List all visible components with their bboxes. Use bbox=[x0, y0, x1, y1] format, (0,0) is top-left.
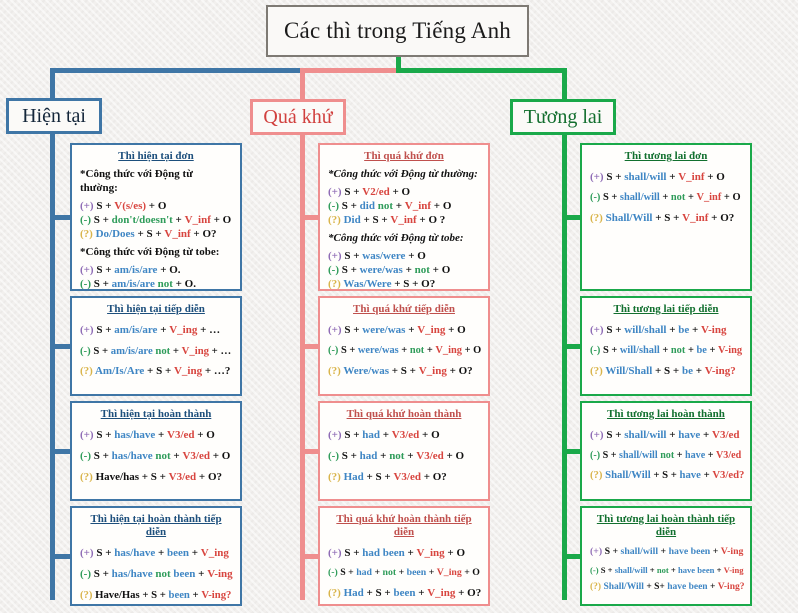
formula-section-heading: *Công thức với Động từ thường: bbox=[328, 168, 480, 182]
tense-box-future-0[interactable]: Thì tương lai đơn(+) S + shall/will + V_… bbox=[580, 143, 752, 291]
formula-line: (+) S + were/was + V_ing + O bbox=[328, 320, 480, 341]
formula-body: S + had + not + been + V_ing + O bbox=[340, 567, 480, 578]
mindmap-canvas: Các thì trong Tiếng Anh Hiện tại Quá khứ… bbox=[0, 0, 798, 613]
formula-body: S + shall/will + not + have been + V-ing bbox=[601, 565, 744, 575]
formula-body: S + am/is/are + V_ing + … bbox=[96, 324, 220, 336]
formula-body: S + has/have + V3/ed + O bbox=[96, 429, 215, 441]
formula-body: Will/Shall + S + be + V-ing? bbox=[605, 365, 735, 377]
formula-marker: (+) bbox=[328, 186, 344, 198]
formula-marker: (?) bbox=[80, 365, 95, 377]
formula-line: (-) S + am/is/are not + O. bbox=[80, 277, 232, 291]
formula-line: (+) S + am/is/are + O. bbox=[80, 263, 232, 277]
formula-body: S + am/is/are not + V_ing + … bbox=[93, 345, 231, 357]
formula-marker: (?) bbox=[328, 278, 343, 290]
tense-box-title: Thì hiện tại hoàn thành bbox=[80, 408, 232, 421]
branch-head-future[interactable]: Tương lai bbox=[510, 99, 616, 135]
tense-box-present-0[interactable]: Thì hiện tại đơn*Công thức với Động từ t… bbox=[70, 143, 242, 291]
formula-body: S + were/was + not + V_ing + O bbox=[341, 345, 481, 356]
formula-marker: (-) bbox=[80, 568, 94, 580]
tense-box-present-2[interactable]: Thì hiện tại hoàn thành(+) S + has/have … bbox=[70, 401, 242, 501]
formula-marker: (?) bbox=[328, 471, 344, 483]
formula-body: S + will/shall + not + be + V-ing bbox=[603, 345, 742, 356]
formula-line: (-) S + has/have not been + V-ing bbox=[80, 564, 232, 585]
formula-marker: (?) bbox=[328, 365, 343, 377]
formula-body: S + shall/will + have + V3/ed bbox=[606, 429, 739, 441]
formula-marker: (+) bbox=[328, 547, 344, 559]
connector-spine-past bbox=[300, 68, 305, 600]
formula-marker: (-) bbox=[80, 278, 94, 290]
formula-line: (-) S + shall/will not + have + V3/ed bbox=[590, 446, 742, 465]
formula-body: S + did not + V_inf + O bbox=[342, 200, 452, 212]
tense-box-past-2[interactable]: Thì quá khứ hoàn thành(+) S + had + V3/e… bbox=[318, 401, 490, 501]
formula-body: Had + S + V3/ed + O? bbox=[344, 471, 447, 483]
formula-body: S + V2/ed + O bbox=[344, 186, 410, 198]
connector-rail-past bbox=[300, 68, 396, 73]
formula-body: S + had been + V_ing + O bbox=[344, 547, 465, 559]
formula-marker: (?) bbox=[590, 469, 605, 481]
formula-marker: (?) bbox=[590, 582, 603, 592]
formula-body: Did + S + V_inf + O ? bbox=[344, 214, 446, 226]
connector-spine-present bbox=[50, 68, 55, 600]
formula-body: S + shall/will + not + V_inf + O bbox=[603, 192, 741, 203]
formula-marker: (-) bbox=[328, 345, 341, 356]
connector-stub-past-1 bbox=[300, 344, 318, 349]
tense-box-title: Thì hiện tại tiếp diễn bbox=[80, 303, 232, 316]
formula-marker: (-) bbox=[590, 345, 603, 356]
formula-marker: (+) bbox=[80, 429, 96, 441]
formula-line: (-) S + were/was + not + V_ing + O bbox=[328, 341, 480, 361]
formula-marker: (-) bbox=[328, 264, 342, 276]
formula-marker: (-) bbox=[80, 450, 94, 462]
formula-marker: (?) bbox=[590, 212, 606, 224]
connector-rail-present bbox=[50, 68, 300, 73]
formula-marker: (+) bbox=[80, 264, 96, 276]
tense-box-future-2[interactable]: Thì tương lai hoàn thành(+) S + shall/wi… bbox=[580, 401, 752, 501]
formula-body: S + has/have + been + V_ing bbox=[96, 547, 229, 559]
connector-stub-present-3 bbox=[50, 554, 70, 559]
formula-line: (-) S + don't/doesn't + V_inf + O bbox=[80, 213, 232, 227]
formula-line: (-) S + shall/will + not + V_inf + O bbox=[590, 188, 742, 208]
connector-spine-future bbox=[562, 68, 567, 600]
formula-line: (?) Shall/Will + S + have + V3/ed? bbox=[590, 465, 742, 485]
formula-marker: (-) bbox=[590, 450, 603, 461]
formula-marker: (+) bbox=[80, 200, 96, 212]
formula-marker: (+) bbox=[590, 546, 605, 557]
formula-marker: (+) bbox=[590, 429, 606, 441]
formula-body: S + am/is/are + O. bbox=[96, 264, 180, 276]
formula-marker: (?) bbox=[590, 365, 605, 377]
formula-marker: (+) bbox=[590, 324, 606, 336]
formula-marker: (+) bbox=[328, 250, 344, 262]
formula-line: (+) S + has/have + been + V_ing bbox=[80, 543, 232, 564]
connector-stub-past-2 bbox=[300, 449, 318, 454]
formula-line: (?) Did + S + V_inf + O ? bbox=[328, 213, 480, 227]
formula-marker: (-) bbox=[328, 450, 342, 462]
tense-box-future-3[interactable]: Thì tương lai hoàn thành tiếp diễn(+) S … bbox=[580, 506, 752, 606]
formula-line: (+) S + shall/will + have + V3/ed bbox=[590, 425, 742, 446]
tense-box-title: Thì hiện tại đơn bbox=[80, 150, 232, 163]
tense-box-present-3[interactable]: Thì hiện tại hoàn thành tiếp diễn(+) S +… bbox=[70, 506, 242, 606]
formula-line: (+) S + will/shall + be + V-ing bbox=[590, 320, 742, 341]
formula-section-heading: *Công thức với Động từ tobe: bbox=[328, 232, 480, 246]
formula-line: (?) Was/Were + S + O? bbox=[328, 277, 480, 291]
tense-box-past-3[interactable]: Thì quá khứ hoàn thành tiếp diễn(+) S + … bbox=[318, 506, 490, 606]
formula-line: (+) S + V(s/es) + O bbox=[80, 199, 232, 213]
formula-line: (-) S + had + not + V3/ed + O bbox=[328, 446, 480, 467]
formula-body: Were/was + S + V_ing + O? bbox=[343, 365, 472, 377]
formula-marker: (?) bbox=[80, 228, 96, 240]
formula-line: (+) S + had been + V_ing + O bbox=[328, 543, 480, 564]
formula-body: S + am/is/are not + O. bbox=[94, 278, 196, 290]
formula-line: (-) S + were/was + not + O bbox=[328, 263, 480, 277]
tense-box-past-1[interactable]: Thì quá khứ tiếp diễn(+) S + were/was + … bbox=[318, 296, 490, 396]
formula-line: (+) S + had + V3/ed + O bbox=[328, 425, 480, 446]
formula-line: (-) S + did not + V_inf + O bbox=[328, 199, 480, 213]
formula-body: Shall/Will + S+ have been + V-ing? bbox=[603, 582, 744, 592]
tense-box-title: Thì quá khứ đơn bbox=[328, 150, 480, 163]
formula-marker: (+) bbox=[328, 429, 344, 441]
root-title: Các thì trong Tiếng Anh bbox=[266, 5, 529, 57]
formula-body: Have/has + S + V3/ed + O? bbox=[96, 471, 222, 483]
formula-marker: (?) bbox=[328, 587, 344, 599]
formula-line: (?) Were/was + S + V_ing + O? bbox=[328, 361, 480, 382]
formula-marker: (-) bbox=[80, 214, 94, 226]
tense-box-future-1[interactable]: Thì tương lai tiếp diễn(+) S + will/shal… bbox=[580, 296, 752, 396]
formula-line: (+) S + has/have + V3/ed + O bbox=[80, 425, 232, 446]
connector-stub-future-3 bbox=[562, 554, 580, 559]
formula-body: Am/Is/Are + S + V_ing + …? bbox=[95, 365, 230, 377]
tense-box-title: Thì tương lai tiếp diễn bbox=[590, 303, 742, 316]
formula-line: (?) Do/Does + S + V_inf + O? bbox=[80, 227, 232, 241]
formula-marker: (+) bbox=[80, 547, 96, 559]
formula-body: Have/Has + S + been + V-ing? bbox=[95, 589, 231, 601]
formula-body: S + don't/doesn't + V_inf + O bbox=[94, 214, 231, 226]
connector-stub-present-2 bbox=[50, 449, 70, 454]
connector-stub-future-1 bbox=[562, 344, 580, 349]
formula-body: Shall/Will + S + have + V3/ed? bbox=[605, 469, 744, 481]
formula-marker: (-) bbox=[328, 567, 340, 578]
formula-line: (-) S + will/shall + not + be + V-ing bbox=[590, 341, 742, 361]
formula-line: (-) S + shall/will + not + have been + V… bbox=[590, 562, 742, 578]
formula-marker: (+) bbox=[328, 324, 344, 336]
formula-line: (?) Had + S + V3/ed + O? bbox=[328, 467, 480, 488]
formula-marker: (?) bbox=[80, 589, 95, 601]
formula-body: S + has/have not been + V-ing bbox=[94, 568, 233, 580]
formula-line: (+) S + shall/will + have been + V-ing bbox=[590, 543, 742, 562]
tense-box-title: Thì tương lai hoàn thành bbox=[590, 408, 742, 421]
tense-box-title: Thì quá khứ hoàn thành tiếp diễn bbox=[328, 513, 480, 539]
formula-line: (-) S + has/have not + V3/ed + O bbox=[80, 446, 232, 467]
connector-stub-present-1 bbox=[50, 344, 70, 349]
tense-box-past-0[interactable]: Thì quá khứ đơn*Công thức với Động từ th… bbox=[318, 143, 490, 291]
tense-box-present-1[interactable]: Thì hiện tại tiếp diễn(+) S + am/is/are … bbox=[70, 296, 242, 396]
tense-box-title: Thì quá khứ hoàn thành bbox=[328, 408, 480, 421]
formula-body: Shall/Will + S + V_inf + O? bbox=[606, 212, 735, 224]
formula-body: S + shall/will + V_inf + O bbox=[606, 171, 725, 183]
formula-body: S + V(s/es) + O bbox=[96, 200, 166, 212]
branch-head-past[interactable]: Quá khứ bbox=[250, 99, 346, 135]
connector-stub-future-2 bbox=[562, 449, 580, 454]
formula-line: (+) S + was/were + O bbox=[328, 249, 480, 263]
formula-body: S + had + V3/ed + O bbox=[344, 429, 439, 441]
formula-marker: (?) bbox=[80, 471, 96, 483]
connector-stub-past-0 bbox=[300, 215, 318, 220]
formula-marker: (-) bbox=[590, 192, 603, 203]
formula-line: (?) Had + S + been + V_ing + O? bbox=[328, 583, 480, 604]
formula-line: (-) S + am/is/are not + V_ing + … bbox=[80, 341, 232, 361]
formula-body: Was/Were + S + O? bbox=[343, 278, 435, 290]
tense-box-title: Thì tương lai hoàn thành tiếp diễn bbox=[590, 513, 742, 539]
formula-marker: (-) bbox=[328, 200, 342, 212]
formula-body: S + shall/will + have been + V-ing bbox=[605, 546, 744, 557]
formula-marker: (-) bbox=[590, 565, 601, 575]
formula-body: S + will/shall + be + V-ing bbox=[606, 324, 726, 336]
formula-body: Had + S + been + V_ing + O? bbox=[344, 587, 482, 599]
formula-line: (+) S + V2/ed + O bbox=[328, 185, 480, 199]
formula-line: (?) Have/has + S + V3/ed + O? bbox=[80, 467, 232, 488]
formula-line: (?) Am/Is/Are + S + V_ing + …? bbox=[80, 361, 232, 382]
connector-rail-future bbox=[396, 68, 567, 73]
formula-body: S + shall/will not + have + V3/ed bbox=[603, 450, 742, 461]
formula-body: S + was/were + O bbox=[344, 250, 425, 262]
formula-section-heading: *Công thức với Động từ thường: bbox=[80, 168, 232, 196]
connector-stub-past-3 bbox=[300, 554, 318, 559]
formula-body: S + were/was + not + O bbox=[342, 264, 451, 276]
formula-line: (?) Will/Shall + S + be + V-ing? bbox=[590, 361, 742, 382]
formula-line: (+) S + am/is/are + V_ing + … bbox=[80, 320, 232, 341]
formula-marker: (+) bbox=[590, 171, 606, 183]
formula-body: S + had + not + V3/ed + O bbox=[342, 450, 464, 462]
formula-line: (?) Shall/Will + S+ have been + V-ing? bbox=[590, 578, 742, 596]
formula-line: (?) Have/Has + S + been + V-ing? bbox=[80, 585, 232, 605]
formula-marker: (+) bbox=[80, 324, 96, 336]
formula-line: (+) S + shall/will + V_inf + O bbox=[590, 167, 742, 188]
formula-line: (-) S + had + not + been + V_ing + O bbox=[328, 564, 480, 583]
connector-stub-future-0 bbox=[562, 215, 580, 220]
formula-body: Do/Does + S + V_inf + O? bbox=[96, 228, 217, 240]
tense-box-title: Thì quá khứ tiếp diễn bbox=[328, 303, 480, 316]
formula-body: S + were/was + V_ing + O bbox=[344, 324, 465, 336]
formula-body: S + has/have not + V3/ed + O bbox=[94, 450, 231, 462]
formula-marker: (?) bbox=[328, 214, 344, 226]
connector-stub-present-0 bbox=[50, 215, 70, 220]
formula-marker: (-) bbox=[80, 345, 93, 357]
formula-line: (?) Shall/Will + S + V_inf + O? bbox=[590, 208, 742, 229]
formula-section-heading: *Công thức với Động từ tobe: bbox=[80, 246, 232, 260]
tense-box-title: Thì hiện tại hoàn thành tiếp diễn bbox=[80, 513, 232, 539]
branch-head-present[interactable]: Hiện tại bbox=[6, 98, 102, 134]
tense-box-title: Thì tương lai đơn bbox=[590, 150, 742, 163]
